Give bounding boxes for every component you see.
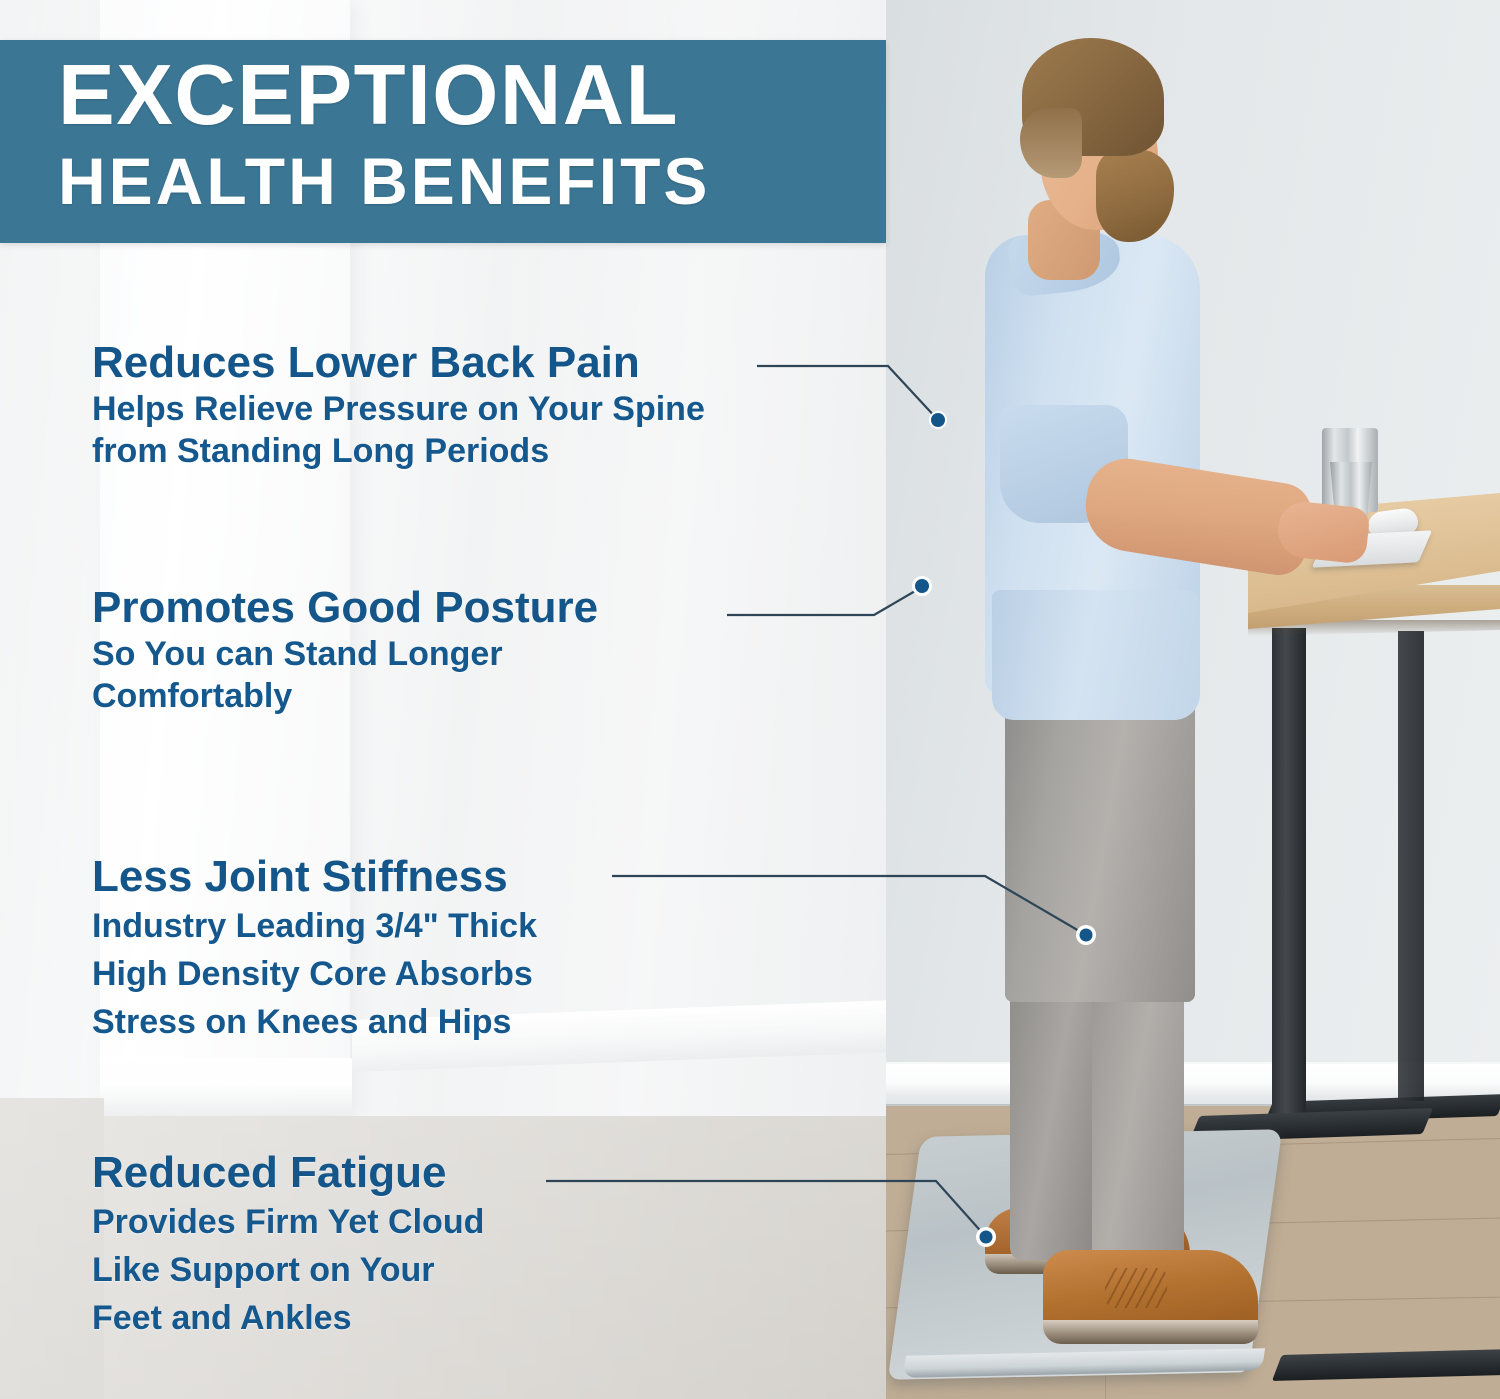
benefit-block-2: Promotes Good Posture So You can Stand L… — [92, 583, 598, 717]
benefit-block-3: Less Joint Stiffness Industry Leading 3/… — [92, 852, 537, 1046]
infographic-canvas: EXCEPTIONAL HEALTH BENEFITS Reduces Lowe… — [0, 0, 1500, 1399]
benefit-subtext-3-line3: Stress on Knees and Hips — [92, 998, 537, 1046]
desk-leg-rear — [1398, 631, 1424, 1101]
benefit-title-1: Reduces Lower Back Pain — [92, 338, 705, 388]
leg-front — [1092, 960, 1184, 1270]
desk-leg-front — [1272, 628, 1306, 1118]
benefit-subtext-3-line2: High Density Core Absorbs — [92, 950, 537, 998]
header-banner: EXCEPTIONAL HEALTH BENEFITS — [0, 40, 886, 243]
benefit-block-1: Reduces Lower Back Pain Helps Relieve Pr… — [92, 338, 705, 472]
benefit-subtext-4-line1: Provides Firm Yet Cloud — [92, 1198, 484, 1246]
benefit-subtext-2-line2: Comfortably — [92, 675, 598, 717]
benefit-subtext-2-line1: So You can Stand Longer — [92, 633, 598, 675]
benefit-title-4: Reduced Fatigue — [92, 1148, 484, 1198]
benefit-subtext-4-line2: Like Support on Your — [92, 1246, 484, 1294]
benefit-subtext-3-line1: Industry Leading 3/4" Thick — [92, 902, 537, 950]
banner-title-line1: EXCEPTIONAL — [58, 48, 886, 144]
benefit-subtext-1-line2: from Standing Long Periods — [92, 430, 705, 472]
benefit-subtext-4-line3: Feet and Ankles — [92, 1294, 484, 1342]
pants — [1005, 672, 1195, 1002]
leg-rear — [1010, 960, 1094, 1260]
shirt-hem — [992, 590, 1200, 720]
benefit-subtext-1-line1: Helps Relieve Pressure on Your Spine — [92, 388, 705, 430]
benefit-title-3: Less Joint Stiffness — [92, 852, 537, 902]
shoe-front-sole — [1043, 1320, 1258, 1344]
shoe-laces — [1105, 1268, 1167, 1308]
benefit-block-4: Reduced Fatigue Provides Firm Yet Cloud … — [92, 1148, 484, 1342]
benefit-title-2: Promotes Good Posture — [92, 583, 598, 633]
banner-title-line2: HEALTH BENEFITS — [58, 144, 886, 218]
